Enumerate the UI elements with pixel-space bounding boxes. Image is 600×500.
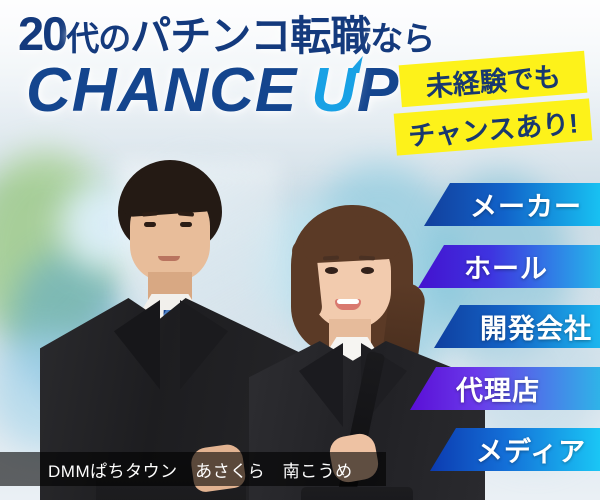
teeth <box>337 299 359 304</box>
eye <box>325 267 338 274</box>
headline: 20代のパチンコ転職なら <box>18 10 434 57</box>
headline-number: 20 <box>18 7 66 60</box>
category-banner-media[interactable]: メディア <box>430 428 600 471</box>
category-banner-development-company[interactable]: 開発会社 <box>434 305 600 348</box>
eye <box>361 267 374 274</box>
category-label: 代理店 <box>456 369 540 408</box>
logo-main-text: CHANCE <box>26 56 297 125</box>
ad-banner[interactable]: 20代のパチンコ転職なら CHANCEUP 未経験でも チャンスあり! メーカー… <box>0 0 600 500</box>
hair-fringe <box>302 214 402 263</box>
headline-tail: なら <box>370 20 434 57</box>
eye <box>144 222 156 227</box>
category-banner-agency[interactable]: 代理店 <box>410 367 600 410</box>
category-label: 開発会社 <box>480 307 592 346</box>
category-label: メーカー <box>470 185 582 224</box>
handbag <box>301 487 413 500</box>
caption-bar: DMMぱちタウン あさくら 南こうめ <box>0 452 386 486</box>
logo-chance-up: CHANCEUP <box>26 60 399 122</box>
headline-keyword: パチンコ転職 <box>130 13 370 59</box>
hair-fringe <box>121 171 220 218</box>
category-label: ホール <box>464 247 548 286</box>
category-label: メディア <box>476 430 586 469</box>
mouth <box>158 256 180 261</box>
category-banner-maker[interactable]: メーカー <box>424 183 600 226</box>
headline-suffix: 代の <box>66 20 130 57</box>
category-banner-hall[interactable]: ホール <box>418 245 600 288</box>
logo-accent-letter: U <box>311 60 357 122</box>
caption-text: DMMぱちタウン あさくら 南こうめ <box>0 457 353 482</box>
eye <box>180 222 192 227</box>
